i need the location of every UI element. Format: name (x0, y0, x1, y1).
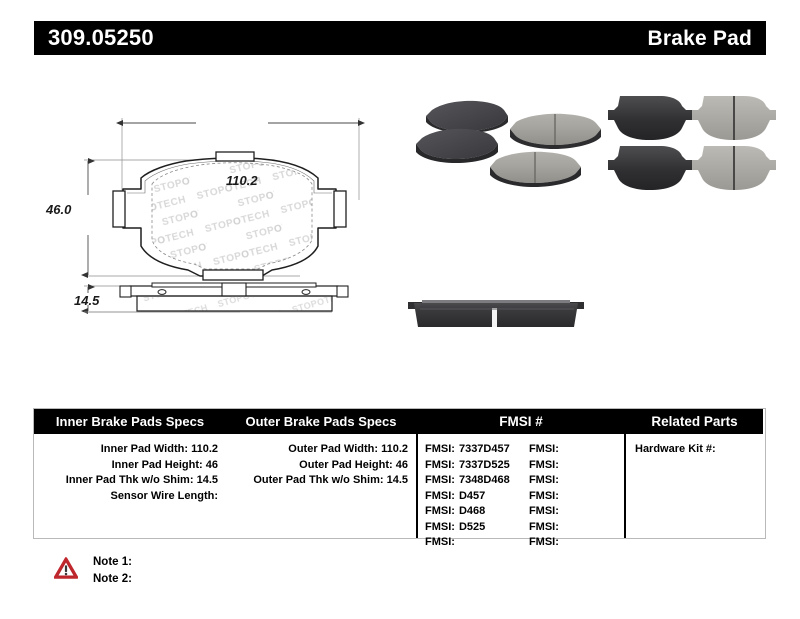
fmsi-row: FMSI: (529, 535, 624, 551)
fmsi-label: FMSI: (425, 474, 455, 486)
note-item: Note 1: (93, 554, 132, 571)
product-photo-angled-and-flat (400, 88, 780, 198)
spec-row: Sensor Wire Length: (34, 489, 226, 505)
column-body-outer: Outer Pad Width: 110.2 Outer Pad Height:… (226, 434, 416, 489)
fmsi-value (455, 536, 459, 548)
fmsi-value: D525 (455, 521, 485, 533)
fmsi-row: FMSI: (529, 473, 624, 489)
spec-label: Outer Pad Width: (288, 443, 378, 455)
spec-value: 14.5 (197, 474, 218, 486)
spec-value: 14.5 (387, 474, 408, 486)
spec-value: 46 (396, 459, 408, 471)
fmsi-value (559, 505, 563, 517)
column-outer-brake-pads-specs: Outer Brake Pads Specs Outer Pad Width: … (226, 409, 418, 538)
note-item: Note 2: (93, 571, 132, 588)
fmsi-label: FMSI: (529, 505, 559, 517)
column-related-parts: Related Parts Hardware Kit #: (626, 409, 763, 538)
column-header-inner: Inner Brake Pads Specs (34, 409, 226, 434)
spec-value: 110.2 (381, 443, 408, 455)
dimension-height-label: 46.0 (46, 202, 71, 217)
fmsi-value: 7337D525 (455, 459, 510, 471)
product-type-label: Brake Pad (647, 28, 752, 49)
fmsi-label: FMSI: (425, 536, 455, 548)
fmsi-row: FMSI:7337D525 (425, 458, 529, 474)
column-inner-brake-pads-specs: Inner Brake Pads Specs Inner Pad Width: … (34, 409, 226, 538)
fmsi-value (559, 443, 563, 455)
notes-area: Note 1: Note 2: (54, 554, 132, 588)
dimension-thickness-label: 14.5 (74, 293, 99, 308)
fmsi-value (559, 490, 563, 502)
spec-row: Outer Pad Width: 110.2 (226, 442, 416, 458)
fmsi-row: FMSI:D468 (425, 504, 529, 520)
fmsi-row: FMSI: (529, 489, 624, 505)
fmsi-value (559, 459, 563, 471)
spec-label: Outer Pad Height: (299, 459, 393, 471)
spec-row: Outer Pad Thk w/o Shim: 14.5 (226, 473, 416, 489)
spec-label: Outer Pad Thk w/o Shim: (253, 474, 383, 486)
fmsi-label: FMSI: (529, 521, 559, 533)
fmsi-label: FMSI: (425, 505, 455, 517)
fmsi-label: FMSI: (529, 490, 559, 502)
fmsi-row: FMSI: (529, 504, 624, 520)
fmsi-label: FMSI: (425, 459, 455, 471)
column-header-fmsi: FMSI # (418, 409, 624, 434)
spec-row: Inner Pad Width: 110.2 (34, 442, 226, 458)
warning-triangle-icon (54, 557, 78, 579)
dimension-width-label: 110.2 (226, 173, 258, 188)
product-photo-side-profile (400, 278, 590, 338)
hardware-kit-label: Hardware Kit #: (635, 443, 716, 455)
fmsi-left-list: FMSI:7337D457 FMSI:7337D525 FMSI:7348D46… (418, 442, 529, 551)
specifications-table: Inner Brake Pads Specs Inner Pad Width: … (33, 408, 766, 539)
fmsi-row: FMSI:D457 (425, 489, 529, 505)
fmsi-row: FMSI:7348D468 (425, 473, 529, 489)
column-body-fmsi: FMSI:7337D457 FMSI:7337D525 FMSI:7348D46… (418, 434, 624, 551)
spec-row: Outer Pad Height: 46 (226, 458, 416, 474)
column-body-related-parts: Hardware Kit #: (626, 434, 763, 458)
fmsi-value (559, 536, 563, 548)
spec-label: Inner Pad Width: (101, 443, 188, 455)
fmsi-row: FMSI:D525 (425, 520, 529, 536)
column-header-outer: Outer Brake Pads Specs (226, 409, 416, 434)
fmsi-label: FMSI: (529, 536, 559, 548)
cad-technical-drawing: STOPOTECH STOPOTECH STOPOTECH (0, 60, 420, 390)
column-body-inner: Inner Pad Width: 110.2 Inner Pad Height:… (34, 434, 226, 504)
fmsi-value: 7348D468 (455, 474, 510, 486)
fmsi-row: FMSI:7337D457 (425, 442, 529, 458)
fmsi-row: FMSI: (425, 535, 529, 551)
fmsi-row: FMSI: (529, 442, 624, 458)
spec-label: Inner Pad Thk w/o Shim: (66, 474, 194, 486)
fmsi-value (559, 474, 563, 486)
title-bar: 309.05250 Brake Pad (34, 21, 766, 55)
part-number: 309.05250 (48, 27, 154, 49)
spec-label: Inner Pad Height: (112, 459, 203, 471)
notes-list: Note 1: Note 2: (93, 554, 132, 588)
drawing-area: STOPOTECH STOPOTECH STOPOTECH (0, 60, 800, 390)
spec-value: 46 (206, 459, 218, 471)
fmsi-value: D468 (455, 505, 485, 517)
fmsi-row: FMSI: (529, 458, 624, 474)
spec-row: Inner Pad Height: 46 (34, 458, 226, 474)
fmsi-row: FMSI: (529, 520, 624, 536)
column-fmsi: FMSI # FMSI:7337D457 FMSI:7337D525 FMSI:… (418, 409, 626, 538)
column-header-related-parts: Related Parts (626, 409, 763, 434)
fmsi-label: FMSI: (529, 443, 559, 455)
fmsi-right-list: FMSI: FMSI: FMSI: FMSI: FMSI: FMSI: (529, 442, 624, 551)
fmsi-label: FMSI: (425, 521, 455, 533)
fmsi-label: FMSI: (529, 459, 559, 471)
spec-value: 110.2 (191, 443, 218, 455)
fmsi-value: D457 (455, 490, 485, 502)
fmsi-label: FMSI: (425, 443, 455, 455)
fmsi-value (559, 521, 563, 533)
fmsi-label: FMSI: (529, 474, 559, 486)
spec-label: Sensor Wire Length: (111, 490, 218, 502)
fmsi-label: FMSI: (425, 490, 455, 502)
related-part-row: Hardware Kit #: (635, 442, 763, 458)
fmsi-value: 7337D457 (455, 443, 510, 455)
spec-row: Inner Pad Thk w/o Shim: 14.5 (34, 473, 226, 489)
